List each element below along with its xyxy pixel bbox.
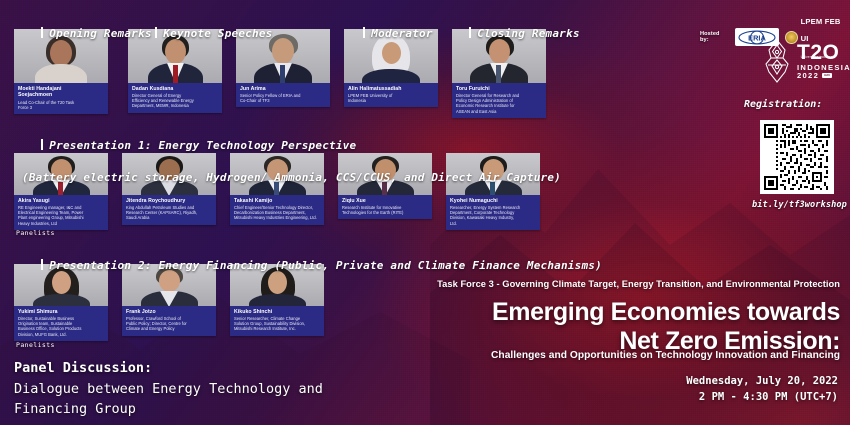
t20-logo: T2O INDONESIA 2022 G20 (760, 38, 850, 84)
speaker-name: Kikuko Shinchi (234, 309, 320, 315)
t20-year-text: 2022 (797, 72, 819, 80)
panelists-tag-presentation-1: Panelists (16, 229, 55, 237)
speaker-nameplate: Jun Arima Senior Policy Fellow of ERIA a… (236, 83, 330, 107)
label-accent-bar (41, 27, 43, 38)
section-label-text: Closing Remarks (477, 27, 579, 40)
event-date: Wednesday, July 20, 2022 (686, 374, 838, 390)
speaker-name: Dadan Kusdiana (132, 86, 218, 92)
label-accent-bar (155, 27, 157, 38)
event-time: 2 PM - 4:30 PM (UTC+7) (686, 390, 838, 406)
panel-discussion-title: Panel Discussion: (14, 358, 323, 379)
panel-discussion-block: Panel Discussion: Dialogue between Energ… (14, 358, 323, 420)
t20-badge-text: G20 (822, 73, 832, 78)
speaker-name: Frank Jotzo (126, 309, 212, 315)
speaker-nameplate: Dadan Kusdiana Director General of Energ… (128, 83, 222, 113)
speaker-title: Lead Co-Chair of the T20 Task Force 3 (18, 100, 104, 110)
speaker-title: Director, Sustainable Business Originati… (18, 316, 104, 336)
presentation-1-header: Presentation 1: Energy Technology Perspe… (14, 122, 561, 218)
label-accent-bar (41, 259, 43, 270)
speaker-title: Senior Researcher, Climate Change Soluti… (234, 316, 320, 331)
speaker-title: LPEM FEB University of Indonesia (348, 93, 434, 103)
panel-discussion-line1: Dialogue between Energy Technology and (14, 379, 323, 400)
speaker-name: Toru Furuichi (456, 86, 542, 92)
t20-mark-text: T2O (797, 42, 850, 63)
label-accent-bar (363, 27, 365, 38)
speaker-name: Moekti Handajani Soejachmoen (18, 86, 104, 99)
section-label-moderator: Moderator (336, 14, 433, 53)
section-label-keynote-speeches: Keynote Speeches (128, 14, 272, 53)
event-poster: Opening Remarks Keynote Speeches Moderat… (0, 0, 850, 425)
qr-code-image (764, 124, 830, 190)
presentation-1-line2: (Battery electric storage, Hydrogen/ Amm… (22, 170, 561, 186)
presentation-2-line1: Presentation 2: Energy Financing (Public… (49, 259, 602, 272)
speaker-nameplate: Alin Halimatussadiah LPEM FEB University… (344, 83, 438, 107)
section-label-text: Moderator (371, 27, 432, 40)
panelists-tag-presentation-2: Panelists (16, 341, 55, 349)
presentation-1-line1: Presentation 1: Energy Technology Perspe… (49, 139, 356, 152)
hosted-by-label: Hosted by: (700, 31, 729, 43)
speaker-title: Professor, Crawford School of Public Pol… (126, 316, 212, 331)
section-label-closing-remarks: Closing Remarks (442, 14, 580, 53)
main-title-line1: Emerging Economies towards (492, 298, 840, 327)
task-force-line: Task Force 3 - Governing Climate Target,… (437, 279, 840, 289)
label-accent-bar (41, 139, 43, 150)
t20-ornament-icon (760, 38, 794, 84)
t20-wordmark: T2O INDONESIA 2022 G20 (797, 42, 850, 79)
speaker-nameplate: Yukimi Shimura Director, Sustainable Bus… (14, 306, 108, 341)
speaker-nameplate: Frank Jotzo Professor, Crawford School o… (122, 306, 216, 336)
label-accent-bar (469, 27, 471, 38)
panel-discussion-line2: Financing Group (14, 399, 323, 420)
speaker-name: Jun Arima (240, 86, 326, 92)
speaker-title: Senior Policy Fellow of ERIA and Co-Chai… (240, 93, 326, 103)
event-datetime: Wednesday, July 20, 2022 2 PM - 4:30 PM … (686, 374, 838, 406)
section-label-text: Keynote Speeches (163, 27, 272, 40)
speaker-name: Alin Halimatussadiah (348, 86, 434, 92)
speaker-nameplate: Moekti Handajani Soejachmoen Lead Co-Cha… (14, 83, 108, 114)
speaker-title: Director General of Energy Efficiency an… (132, 93, 218, 108)
registration-label: Registration: (744, 99, 822, 110)
registration-qr-code[interactable] (760, 120, 834, 194)
registration-url[interactable]: bit.ly/tf3workshop (752, 200, 847, 210)
speaker-title: Director General for Research and Policy… (456, 93, 542, 113)
speaker-nameplate: Kikuko Shinchi Senior Researcher, Climat… (230, 306, 324, 336)
speaker-nameplate: Toru Furuichi Director General for Resea… (452, 83, 546, 118)
main-subtitle: Challenges and Opportunities on Technolo… (491, 350, 840, 361)
main-title: Emerging Economies towards Net Zero Emis… (492, 298, 840, 356)
speaker-name: Yukimi Shimura (18, 309, 104, 315)
